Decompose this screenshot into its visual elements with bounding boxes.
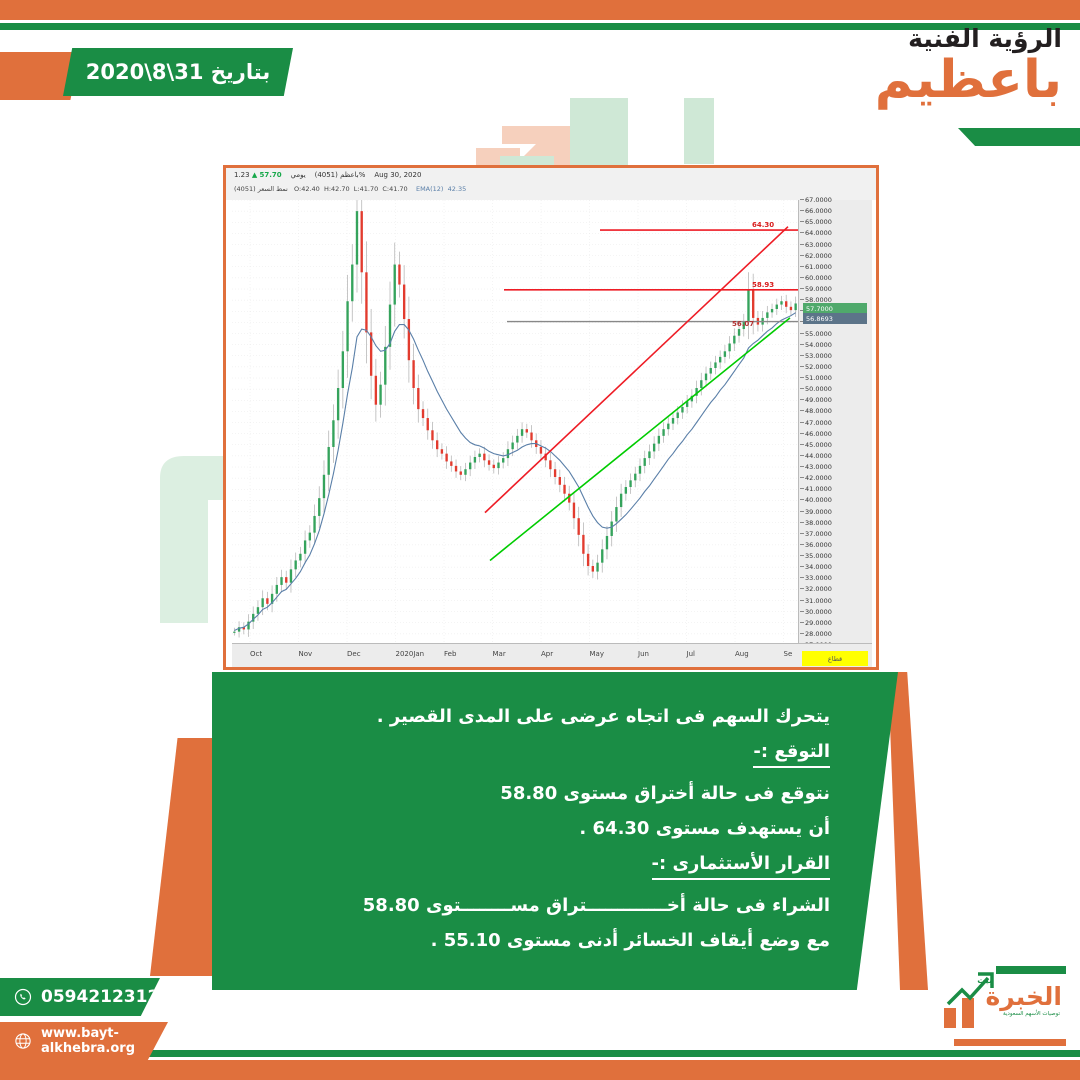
- time-tick-label: Oct: [250, 650, 262, 658]
- chart-ohlc-line: نمط السعر (4051) O:42.40 H:42.70 L:41.70…: [234, 185, 466, 193]
- chart-open: O:42.40: [294, 185, 320, 193]
- price-tick-label: 59.0000: [805, 286, 832, 293]
- whatsapp-contact[interactable]: 0594212312: [0, 978, 160, 1016]
- chart-plot-area[interactable]: TickerChart 64.3058.9356.07 67.000066.00…: [226, 200, 876, 667]
- time-tick-label: Jul: [687, 650, 695, 658]
- analysis-text: يتحرك السهم فى اتجاه عرضى على المدى القص…: [212, 672, 898, 990]
- whatsapp-icon: [14, 988, 32, 1006]
- time-axis[interactable]: OctNovDec2020JanFebMarAprMayJunJulAugSe …: [232, 643, 872, 667]
- price-tick-label: 52.0000: [805, 364, 832, 371]
- price-series-svg: [232, 200, 798, 645]
- price-tick-label: 43.0000: [805, 464, 832, 471]
- price-tick-label: 47.0000: [805, 420, 832, 427]
- time-tick-label: Jun: [638, 650, 649, 658]
- price-tick-label: 28.0000: [805, 631, 832, 638]
- analysis-decision-heading: القرار الأستثمارى :-: [242, 855, 830, 880]
- candlestick-canvas: 64.3058.9356.07: [232, 200, 798, 643]
- price-tick-label: 50.0000: [805, 386, 832, 393]
- chart-date: Aug 30, 2020: [374, 171, 421, 179]
- analysis-line-1: يتحرك السهم فى اتجاه عرضى على المدى القص…: [242, 708, 830, 726]
- chart-change-arrow-icon: ▲: [252, 171, 257, 179]
- level-label: 58.93: [752, 281, 774, 289]
- price-tick-label: 42.0000: [805, 475, 832, 482]
- time-tick-label: Feb: [444, 650, 456, 658]
- price-tick-label: 60.0000: [805, 275, 832, 282]
- top-orange-bar: [0, 0, 1080, 20]
- chart-header: باعظم (4051) يومي 57.70 ▲ 1.23% Aug 30, …: [226, 168, 876, 200]
- price-tick-label: 54.0000: [805, 342, 832, 349]
- brand-logo[interactable]: بيت الخبرة توصيات الأسهم السعودية: [938, 962, 1066, 1046]
- chart-close: C:41.70: [382, 185, 407, 193]
- time-tick-label: Se: [784, 650, 793, 658]
- price-tick-label: 44.0000: [805, 453, 832, 460]
- price-tick-label: 41.0000: [805, 486, 832, 493]
- price-tick-label: 48.0000: [805, 408, 832, 415]
- time-tick-label: Aug: [735, 650, 749, 658]
- price-tick-label: 37.0000: [805, 531, 832, 538]
- price-tick-label: 66.0000: [805, 208, 832, 215]
- chart-series-name: نمط السعر (4051): [234, 185, 288, 193]
- level-label: 56.07: [732, 320, 754, 328]
- price-tick-label: 61.0000: [805, 264, 832, 271]
- price-tick-label: 53.0000: [805, 353, 832, 360]
- price-tick-label: 31.0000: [805, 598, 832, 605]
- chart-ema-value: 42.35: [448, 185, 467, 193]
- website-contact[interactable]: www.bayt-alkhebra.org: [0, 1022, 168, 1060]
- chart-timeframe: يومي: [291, 171, 306, 179]
- logo-tagline: توصيات الأسهم السعودية: [1003, 1011, 1060, 1017]
- time-tick-label: Apr: [541, 650, 553, 658]
- chart-low: L:41.70: [354, 185, 378, 193]
- header-green-wedge: [958, 128, 1080, 146]
- price-tick-label: 55.0000: [805, 331, 832, 338]
- time-tick-label: 2020Jan: [396, 650, 425, 658]
- price-tick-label: 35.0000: [805, 553, 832, 560]
- chart-last-price: 57.70: [259, 171, 281, 179]
- price-tick-label: 65.0000: [805, 219, 832, 226]
- company-name: باعظيم: [722, 54, 1062, 106]
- logo-orange-bar: [954, 1039, 1066, 1046]
- price-tick-label: 67.0000: [805, 197, 832, 204]
- time-tick-label: May: [590, 650, 604, 658]
- page-title: الرؤية الفنية باعظيم: [722, 26, 1062, 106]
- time-tick-label: Mar: [493, 650, 506, 658]
- time-tick-label: Dec: [347, 650, 361, 658]
- chart-high: H:42.70: [324, 185, 350, 193]
- price-tick-label: 29.0000: [805, 620, 832, 627]
- level-label: 64.30: [752, 221, 774, 229]
- chart-quote-line: باعظم (4051) يومي 57.70 ▲ 1.23% Aug 30, …: [234, 171, 421, 179]
- logo-name: الخبرة: [986, 982, 1063, 1011]
- date-badge: بتاريخ 31\8\2020: [63, 48, 293, 96]
- bottom-green-bar: [0, 1050, 1080, 1057]
- price-tick-label: 62.0000: [805, 253, 832, 260]
- price-tick-label: 64.0000: [805, 230, 832, 237]
- price-tick-label: 39.0000: [805, 509, 832, 516]
- price-tick-label: 36.0000: [805, 542, 832, 549]
- analysis-line-5: مع وضع أيقاف الخسائر أدنى مستوى 55.10 .: [242, 932, 830, 950]
- page-subtitle: الرؤية الفنية: [722, 26, 1062, 52]
- bottom-orange-bar: [0, 1060, 1080, 1080]
- price-tick-label: 49.0000: [805, 397, 832, 404]
- chart-symbol: باعظم (4051): [315, 171, 359, 179]
- price-tick-label: 40.0000: [805, 497, 832, 504]
- chart-card[interactable]: باعظم (4051) يومي 57.70 ▲ 1.23% Aug 30, …: [223, 165, 879, 670]
- ema-price-tag: 56.8693: [803, 313, 867, 324]
- price-tick-label: 33.0000: [805, 575, 832, 582]
- price-tick-label: 34.0000: [805, 564, 832, 571]
- price-tick-label: 63.0000: [805, 242, 832, 249]
- price-tick-label: 38.0000: [805, 520, 832, 527]
- price-tick-label: 30.0000: [805, 609, 832, 616]
- price-tick-label: 45.0000: [805, 442, 832, 449]
- price-tick-label: 46.0000: [805, 431, 832, 438]
- chart-ema-label: EMA(12): [416, 185, 444, 193]
- analysis-line-4: الشراء فى حالة أخـــــــــــــتراق مســـ…: [242, 897, 830, 915]
- analysis-line-3: أن يستهدف مستوى 64.30 .: [242, 820, 830, 838]
- website-url: www.bayt-alkhebra.org: [41, 1026, 138, 1056]
- price-axis[interactable]: 67.000066.000065.000064.000063.000062.00…: [798, 200, 872, 643]
- analysis-forecast-heading: التوقع :-: [242, 743, 830, 768]
- logo-green-bar: [996, 966, 1066, 974]
- time-tick-label: Nov: [299, 650, 313, 658]
- price-tick-label: 51.0000: [805, 375, 832, 382]
- phone-number: 0594212312: [41, 987, 159, 1007]
- axis-sector-label: قطاع: [802, 651, 868, 666]
- price-tick-label: 32.0000: [805, 586, 832, 593]
- globe-icon: [14, 1032, 32, 1050]
- analysis-line-2: نتوقع فى حالة أختراق مستوى 58.80: [242, 785, 830, 803]
